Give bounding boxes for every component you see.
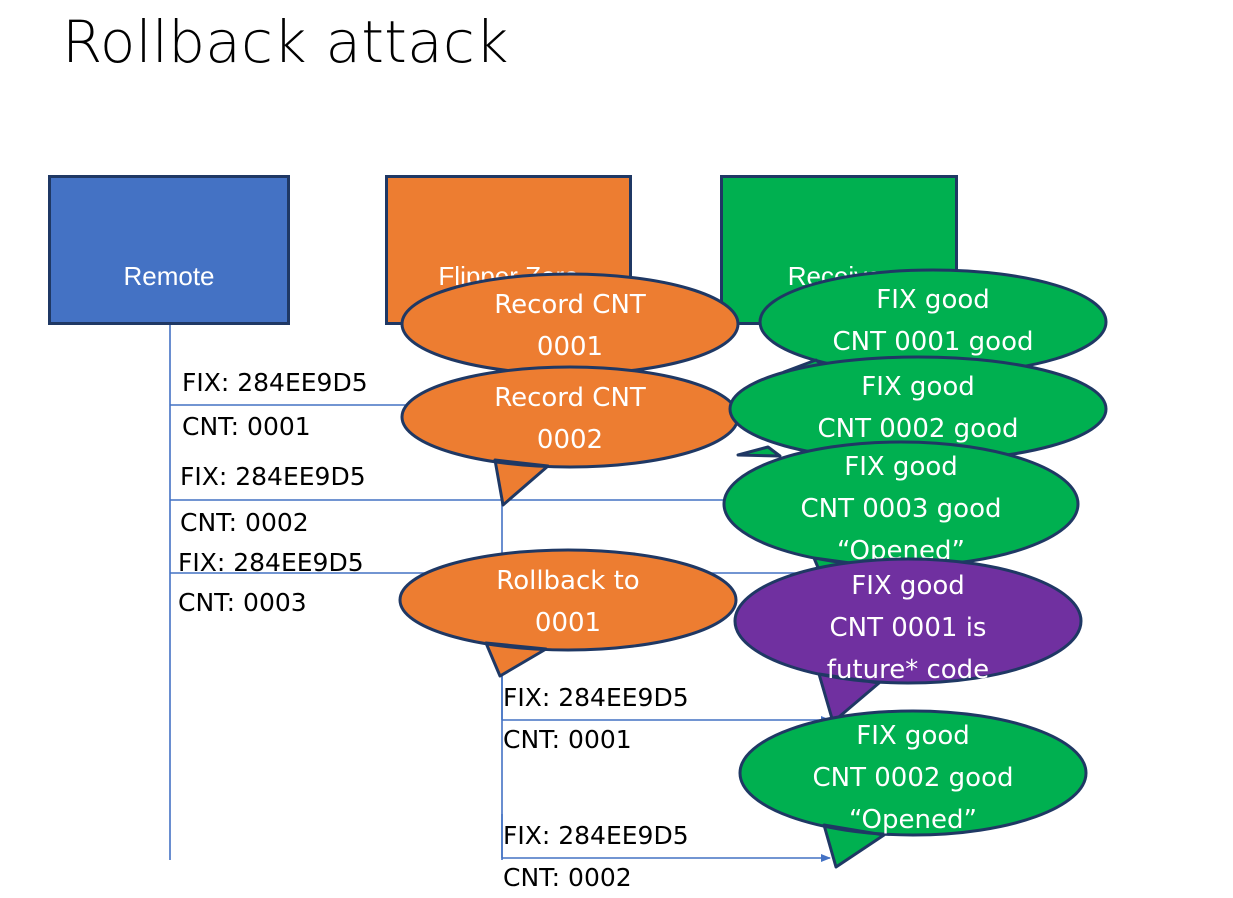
page-title: Rollback attack <box>62 8 509 76</box>
message-5-fix: FIX: 284EE9D5 <box>503 821 689 850</box>
callout-rollback-to-0001: Rollback to 0001 <box>398 548 738 693</box>
message-2-fix: FIX: 284EE9D5 <box>180 462 366 491</box>
message-3-cnt: CNT: 0003 <box>178 588 307 617</box>
message-5-cnt: CNT: 0002 <box>503 863 632 892</box>
message-4-cnt: CNT: 0001 <box>503 725 632 754</box>
message-3-fix: FIX: 284EE9D5 <box>178 548 364 577</box>
message-1-cnt: CNT: 0001 <box>182 412 311 441</box>
actor-label-remote: Remote <box>123 261 214 292</box>
callout-future-code-alert: FIX good CNT 0001 is future* code <box>733 557 1083 727</box>
slide-canvas: Rollback attack Remote Flipp <box>0 0 1233 898</box>
callout-record-cnt-0002: Record CNT 0002 <box>400 365 740 510</box>
actor-box-remote: Remote <box>48 175 290 325</box>
message-1-fix: FIX: 284EE9D5 <box>182 368 368 397</box>
callout-fix-good-0002-opened: FIX good CNT 0002 good “Opened” <box>738 707 1088 882</box>
message-2-cnt: CNT: 0002 <box>180 508 309 537</box>
